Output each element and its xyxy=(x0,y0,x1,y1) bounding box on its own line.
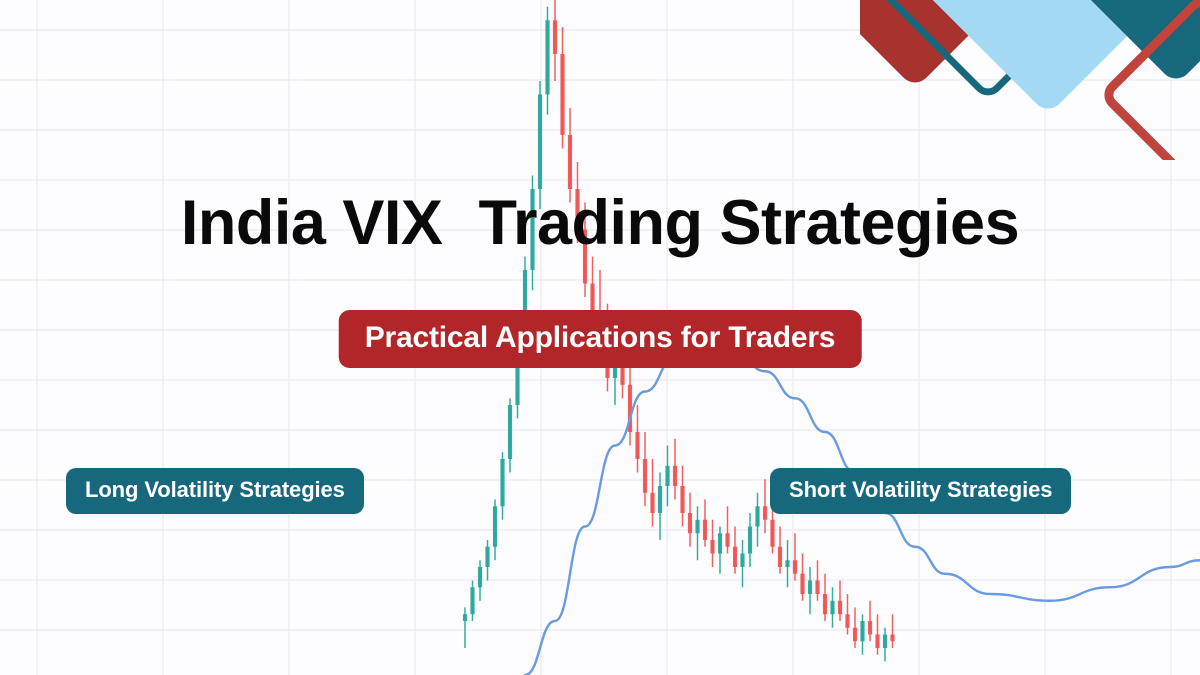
badge-short-volatility-strategies: Short Volatility Strategies xyxy=(770,468,1071,514)
page-title-part1: India VIX xyxy=(181,188,443,258)
subtitle-badge: Practical Applications for Traders xyxy=(339,310,862,368)
poster-text-layer: India VIXTrading Strategies Practical Ap… xyxy=(0,0,1200,675)
page-title-part2: Trading Strategies xyxy=(478,188,1019,258)
page-title: India VIXTrading Strategies xyxy=(0,190,1200,256)
poster-canvas: India VIXTrading Strategies Practical Ap… xyxy=(0,0,1200,675)
badge-long-volatility-strategies: Long Volatility Strategies xyxy=(66,468,364,514)
